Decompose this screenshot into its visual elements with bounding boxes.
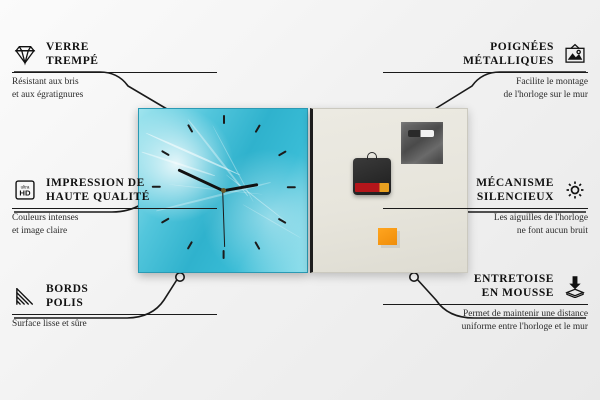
callout-subtitle-line2: de l'horloge sur le mur bbox=[383, 89, 588, 101]
callout-title: POIGNÉES MÉTALLIQUES bbox=[463, 40, 554, 68]
callout-header: ultra HD IMPRESSION DE HAUTE QUALITÉ bbox=[12, 176, 217, 204]
callout-divider bbox=[12, 208, 217, 209]
callout-divider bbox=[383, 304, 588, 305]
callout-title: MÉCANISME SILENCIEUX bbox=[476, 176, 554, 204]
callout-subtitle: Permet de maintenir une distance uniform… bbox=[383, 308, 588, 332]
clock-tick bbox=[223, 250, 225, 259]
connector-dot-bords-polis bbox=[176, 273, 184, 281]
callout-title-line1: ENTRETOISE bbox=[474, 272, 554, 286]
callout-title-line2: MÉTALLIQUES bbox=[463, 54, 554, 68]
clock-tick bbox=[287, 186, 296, 188]
diamond-icon bbox=[12, 42, 38, 66]
clock-tick bbox=[161, 150, 170, 156]
metallic-hanger-plate bbox=[401, 122, 443, 164]
callout-divider bbox=[383, 208, 588, 209]
callout-title-line2: SILENCIEUX bbox=[476, 190, 554, 204]
feather-streak bbox=[142, 151, 216, 176]
callout-divider bbox=[12, 314, 217, 315]
clock-tick bbox=[223, 115, 225, 124]
callout-header: VERRE TREMPÉ bbox=[12, 40, 217, 68]
picture-hanger-icon bbox=[562, 42, 588, 66]
callout-title-line1: POIGNÉES bbox=[463, 40, 554, 54]
callout-subtitle-line1: Facilite le montage bbox=[383, 76, 588, 88]
callout-subtitle: Résistant aux bris et aux égratignures bbox=[12, 76, 217, 100]
svg-text:HD: HD bbox=[19, 189, 31, 198]
callout-divider bbox=[12, 72, 217, 73]
callout-subtitle-line1: Surface lisse et sûre bbox=[12, 318, 217, 330]
ultra-hd-icon: ultra HD bbox=[12, 178, 38, 202]
callout-subtitle: Surface lisse et sûre bbox=[12, 318, 217, 330]
callout-entretoise-en-mousse: ENTRETOISE EN MOUSSE Permet de maintenir… bbox=[383, 272, 588, 333]
hanger-slot bbox=[408, 130, 433, 137]
callout-impression-haute-qualite: ultra HD IMPRESSION DE HAUTE QUALITÉ Cou… bbox=[12, 176, 217, 237]
callout-subtitle-line1: Permet de maintenir une distance bbox=[383, 308, 588, 320]
clock-tick bbox=[255, 241, 261, 250]
foam-spacer-icon bbox=[562, 274, 588, 298]
callout-header: BORDS POLIS bbox=[12, 282, 217, 310]
callout-title-line1: VERRE bbox=[46, 40, 99, 54]
callout-title-line2: TREMPÉ bbox=[46, 54, 99, 68]
callout-title-line2: HAUTE QUALITÉ bbox=[46, 190, 150, 204]
callout-subtitle-line2: uniforme entre l'horloge et le mur bbox=[383, 321, 588, 333]
callout-verre-trempe: VERRE TREMPÉ Résistant aux bris et aux é… bbox=[12, 40, 217, 101]
feather-streak bbox=[243, 204, 302, 238]
callout-title-line2: EN MOUSSE bbox=[474, 286, 554, 300]
callout-subtitle-line1: Les aiguilles de l'horloge bbox=[383, 212, 588, 224]
callout-subtitle: Couleurs intenses et image claire bbox=[12, 212, 217, 236]
callout-title-line1: IMPRESSION DE bbox=[46, 176, 150, 190]
callout-title: IMPRESSION DE HAUTE QUALITÉ bbox=[46, 176, 150, 204]
callout-header: POIGNÉES MÉTALLIQUES bbox=[383, 40, 588, 68]
callout-subtitle: Les aiguilles de l'horloge ne font aucun… bbox=[383, 212, 588, 236]
clock-tick bbox=[187, 124, 193, 133]
callout-title-line1: BORDS bbox=[46, 282, 88, 296]
callout-poignees-metalliques: POIGNÉES MÉTALLIQUES Facilite le montage… bbox=[383, 40, 588, 101]
callout-subtitle-line1: Couleurs intenses bbox=[12, 212, 217, 224]
clock-tick bbox=[278, 150, 287, 156]
callout-subtitle-line2: et image claire bbox=[12, 225, 217, 237]
clock-second-hand bbox=[222, 190, 225, 246]
callout-title: ENTRETOISE EN MOUSSE bbox=[474, 272, 554, 300]
callout-title: BORDS POLIS bbox=[46, 282, 88, 310]
clock-tick bbox=[255, 124, 261, 133]
clock-tick bbox=[187, 241, 193, 250]
gear-icon bbox=[562, 178, 588, 202]
polished-edge-icon bbox=[12, 284, 38, 308]
callout-divider bbox=[383, 72, 588, 73]
callout-header: ENTRETOISE EN MOUSSE bbox=[383, 272, 588, 300]
movement-shaft bbox=[367, 152, 376, 160]
infographic-stage: VERRE TREMPÉ Résistant aux bris et aux é… bbox=[0, 0, 600, 400]
callout-title: VERRE TREMPÉ bbox=[46, 40, 99, 68]
callout-subtitle-line2: ne font aucun bruit bbox=[383, 225, 588, 237]
callout-bords-polis: BORDS POLIS Surface lisse et sûre bbox=[12, 282, 217, 331]
callout-subtitle-line2: et aux égratignures bbox=[12, 89, 217, 101]
callout-header: MÉCANISME SILENCIEUX bbox=[383, 176, 588, 204]
clock-center-hub bbox=[221, 188, 226, 193]
callout-title-line2: POLIS bbox=[46, 296, 88, 310]
feather-streak bbox=[226, 174, 288, 222]
callout-subtitle-line1: Résistant aux bris bbox=[12, 76, 217, 88]
callout-mecanisme-silencieux: MÉCANISME SILENCIEUX Les aiguilles de l'… bbox=[383, 176, 588, 237]
callout-subtitle: Facilite le montage de l'horloge sur le … bbox=[383, 76, 588, 100]
callout-title-line1: MÉCANISME bbox=[476, 176, 554, 190]
